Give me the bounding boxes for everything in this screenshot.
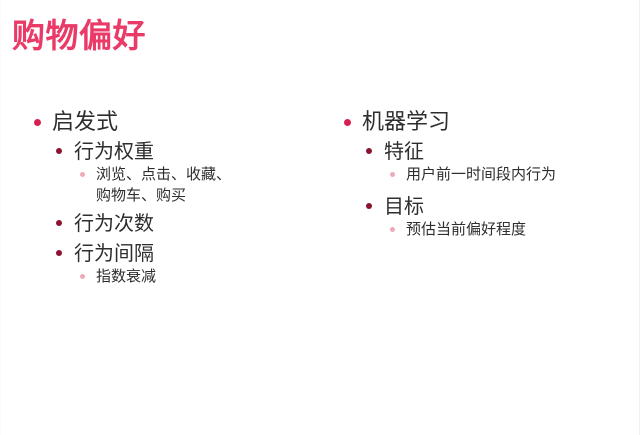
bullet-label: 行为权重 [74, 139, 154, 163]
content-column-right: 机器学习 特征 用户前一时间段内行为 目标 预估当前偏好程度 [340, 108, 635, 240]
page-title: 购物偏好 [12, 16, 146, 56]
bullet-dot-level2-icon [56, 250, 62, 256]
bullet-dot-level2-icon [56, 148, 62, 154]
bullet-detail-line-1: 预估当前偏好程度 [406, 219, 635, 239]
bullet-dot-level3-icon [80, 172, 85, 177]
bullet-level3-target-detail: 预估当前偏好程度 [340, 219, 635, 239]
bullet-detail-line-1: 用户前一时间段内行为 [406, 164, 635, 184]
bullet-dot-level3-icon [80, 274, 85, 279]
bullet-dot-level1-icon [344, 119, 351, 126]
bullet-label: 启发式 [52, 110, 118, 135]
content-column-left: 启发式 行为权重 浏览、点击、收藏、 购物车、购买 行为次数 行为间隔 指数衰减 [30, 108, 330, 287]
spacer [340, 186, 635, 193]
bullet-detail-line-2: 购物车、购买 [96, 185, 330, 205]
bullet-dot-level2-icon [56, 220, 62, 226]
bullet-level1-heuristics: 启发式 [30, 108, 330, 137]
bullet-level3-exponential-decay: 指数衰减 [30, 266, 330, 286]
bullet-level1-machine-learning: 机器学习 [340, 108, 635, 137]
bullet-detail-line-1: 浏览、点击、收藏、 [96, 164, 330, 184]
bullet-level2-target: 目标 [340, 193, 635, 219]
slide-canvas: 购物偏好 启发式 行为权重 浏览、点击、收藏、 购物车、购买 行为次数 行为间隔 [0, 0, 640, 435]
bullet-dot-level3-icon [390, 227, 395, 232]
bullet-level2-behavior-interval: 行为间隔 [30, 240, 330, 266]
bullet-label: 行为间隔 [74, 241, 154, 265]
bullet-detail-line-1: 指数衰减 [96, 266, 330, 286]
bullet-label: 特征 [384, 139, 424, 163]
bullet-label: 目标 [384, 194, 424, 218]
bullet-label: 机器学习 [362, 110, 450, 135]
bullet-dot-level1-icon [34, 119, 41, 126]
bullet-dot-level2-icon [366, 148, 372, 154]
bullet-level3-behavior-weight-detail: 浏览、点击、收藏、 购物车、购买 [30, 164, 330, 204]
bullet-level2-features: 特征 [340, 138, 635, 164]
bullet-dot-level3-icon [390, 172, 395, 177]
bullet-dot-level2-icon [366, 203, 372, 209]
bullet-level3-features-detail: 用户前一时间段内行为 [340, 164, 635, 184]
bullet-level2-behavior-count: 行为次数 [30, 210, 330, 236]
bullet-level2-behavior-weight: 行为权重 [30, 138, 330, 164]
bullet-label: 行为次数 [74, 211, 154, 235]
